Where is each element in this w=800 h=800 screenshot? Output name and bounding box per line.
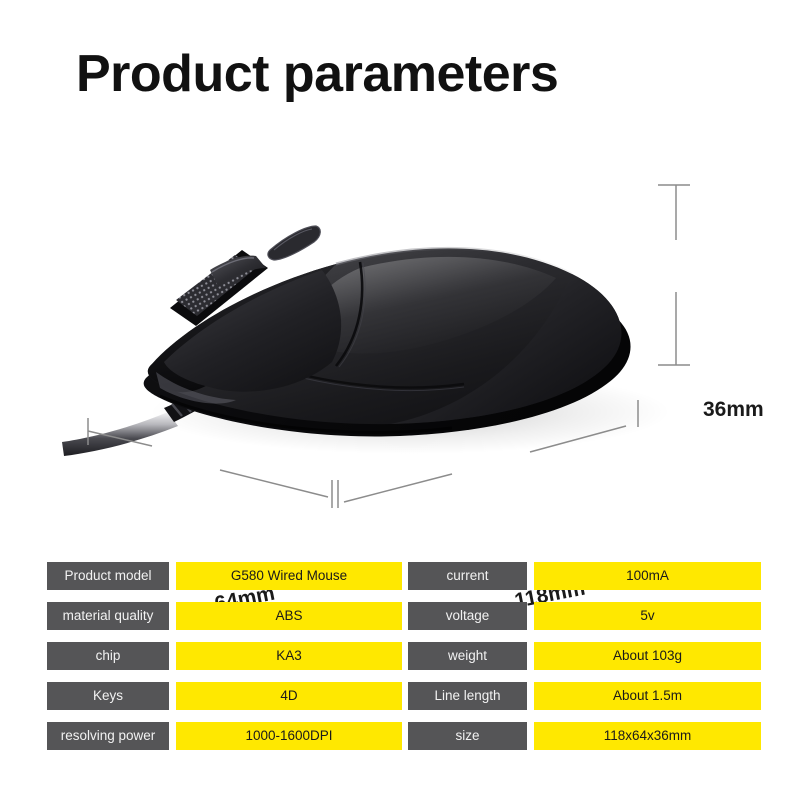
table-row: chip KA3 weight About 103g (47, 642, 761, 670)
spec-value: KA3 (176, 642, 402, 670)
table-row: Keys 4D Line length About 1.5m (47, 682, 761, 710)
spec-value: G580 Wired Mouse (176, 562, 402, 590)
spec-pair-product-model: Product model G580 Wired Mouse (47, 562, 402, 590)
spec-value: 118x64x36mm (534, 722, 761, 750)
table-row: Product model G580 Wired Mouse current 1… (47, 562, 761, 590)
product-parameters-page: Product parameters (0, 0, 800, 800)
spec-key: Line length (408, 682, 527, 710)
specification-table: Product model G580 Wired Mouse current 1… (47, 562, 761, 750)
spec-pair-current: current 100mA (408, 562, 761, 590)
spec-pair-chip: chip KA3 (47, 642, 402, 670)
spec-value: 1000-1600DPI (176, 722, 402, 750)
dpi-button[interactable] (268, 226, 320, 260)
page-title: Product parameters (76, 44, 558, 104)
spec-key: current (408, 562, 527, 590)
spec-value: 5v (534, 602, 761, 630)
spec-key: resolving power (47, 722, 169, 750)
spec-pair-weight: weight About 103g (408, 642, 761, 670)
spec-pair-voltage: voltage 5v (408, 602, 761, 630)
spec-key: weight (408, 642, 527, 670)
spec-pair-line-length: Line length About 1.5m (408, 682, 761, 710)
spec-key: size (408, 722, 527, 750)
dimension-label-height: 36mm (703, 398, 764, 422)
spec-pair-material-quality: material quality ABS (47, 602, 402, 630)
spec-value: About 1.5m (534, 682, 761, 710)
spec-key: Product model (47, 562, 169, 590)
spec-value: 4D (176, 682, 402, 710)
product-figure: 36mm 64mm 118mm (60, 150, 740, 540)
mouse-cable (62, 412, 178, 456)
spec-value: 100mA (534, 562, 761, 590)
spec-value: About 103g (534, 642, 761, 670)
spec-pair-keys: Keys 4D (47, 682, 402, 710)
spec-key: voltage (408, 602, 527, 630)
spec-value: ABS (176, 602, 402, 630)
spec-pair-size: size 118x64x36mm (408, 722, 761, 750)
spec-key: chip (47, 642, 169, 670)
spec-pair-resolving-power: resolving power 1000-1600DPI (47, 722, 402, 750)
table-row: material quality ABS voltage 5v (47, 602, 761, 630)
spec-key: Keys (47, 682, 169, 710)
wired-mouse-illustration (60, 150, 740, 540)
spec-key: material quality (47, 602, 169, 630)
table-row: resolving power 1000-1600DPI size 118x64… (47, 722, 761, 750)
